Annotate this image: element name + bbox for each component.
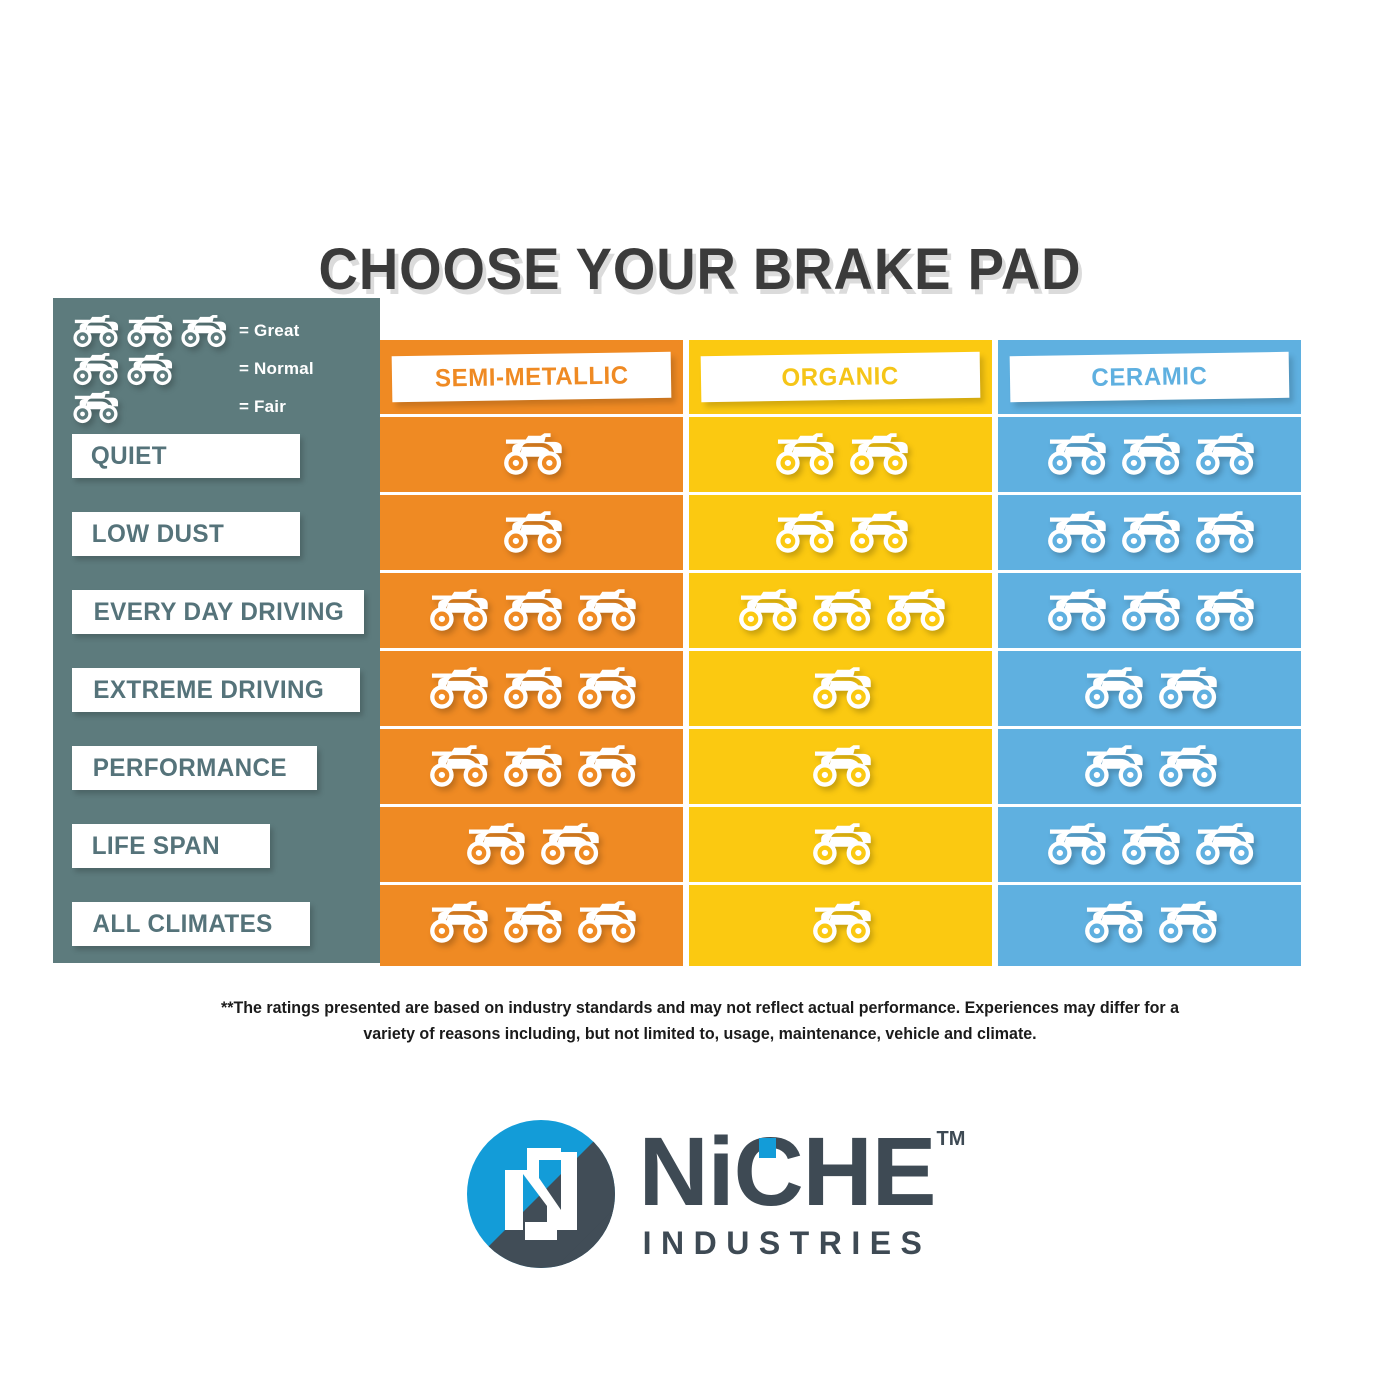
row-label-low-dust: LOW DUST xyxy=(72,512,300,556)
atv-rating-icon xyxy=(501,510,563,555)
legend-icon-group xyxy=(71,390,239,425)
row-label-life-span: LIFE SPAN xyxy=(72,824,270,868)
row-label-text: EXTREME DRIVING xyxy=(76,676,324,705)
rating-cell xyxy=(689,882,992,960)
atv-rating-icon xyxy=(1119,588,1181,633)
rating-cell xyxy=(689,570,992,648)
row-label-text: LOW DUST xyxy=(74,520,224,549)
rating-cell xyxy=(689,726,992,804)
atv-rating-icon xyxy=(1082,744,1144,789)
brake-pad-comparison-chart: = Great= Normal= Fair QUIETLOW DUSTEVERY… xyxy=(53,298,1300,966)
atv-rating-icon xyxy=(847,510,909,555)
rating-cell xyxy=(380,882,683,960)
logo-subtitle: INDUSTRIES xyxy=(643,1225,936,1262)
atv-rating-icon xyxy=(575,666,637,711)
column-header-label: SEMI-METALLIC xyxy=(434,361,628,393)
column-header-organic: ORGANIC xyxy=(689,340,992,414)
atv-rating-icon xyxy=(810,900,872,945)
rating-cell xyxy=(998,804,1301,882)
rating-cell xyxy=(380,492,683,570)
legend-icon-group xyxy=(71,314,239,349)
rating-cell xyxy=(998,570,1301,648)
atv-rating-icon xyxy=(575,744,637,789)
rating-cell xyxy=(998,414,1301,492)
atv-rating-icon xyxy=(1193,822,1255,867)
atv-rating-icon xyxy=(71,352,119,387)
atv-rating-icon xyxy=(501,900,563,945)
row-label-text: PERFORMANCE xyxy=(75,754,287,783)
column-header-semi-metallic: SEMI-METALLIC xyxy=(380,340,683,414)
rating-cell xyxy=(689,492,992,570)
atv-rating-icon xyxy=(1156,744,1218,789)
rating-cell xyxy=(998,492,1301,570)
row-label-text: LIFE SPAN xyxy=(74,832,220,861)
logo-wordmark: NiCHE TM INDUSTRIES xyxy=(639,1126,936,1261)
atv-rating-icon xyxy=(501,588,563,633)
atv-rating-icon xyxy=(427,588,489,633)
atv-rating-icon xyxy=(884,588,946,633)
column-header-label: ORGANIC xyxy=(782,362,900,393)
atv-rating-icon xyxy=(427,666,489,711)
rating-cell xyxy=(998,882,1301,960)
rating-cell xyxy=(689,648,992,726)
atv-rating-icon xyxy=(1156,666,1218,711)
row-label-text: EVERY DAY DRIVING xyxy=(76,598,344,627)
atv-rating-icon xyxy=(71,390,119,425)
chart-sidebar: = Great= Normal= Fair QUIETLOW DUSTEVERY… xyxy=(53,298,380,963)
rating-cell xyxy=(689,804,992,882)
logo-word: NiCHE TM xyxy=(639,1126,936,1218)
atv-rating-icon xyxy=(847,432,909,477)
atv-rating-icon xyxy=(1156,900,1218,945)
legend-row: = Fair xyxy=(71,388,371,426)
column-header-chip: SEMI-METALLIC xyxy=(392,352,672,402)
atv-rating-icon xyxy=(125,352,173,387)
logo-word-text: NiCHE xyxy=(639,1117,936,1226)
column-header-ceramic: CERAMIC xyxy=(998,340,1301,414)
company-logo: NiCHE TM INDUSTRIES xyxy=(0,1118,1400,1270)
rating-cell xyxy=(689,414,992,492)
row-label-quiet: QUIET xyxy=(72,434,300,478)
atv-rating-icon xyxy=(179,314,227,349)
atv-rating-icon xyxy=(1193,510,1255,555)
atv-rating-icon xyxy=(810,666,872,711)
atv-rating-icon xyxy=(810,588,872,633)
row-label-performance: PERFORMANCE xyxy=(72,746,317,790)
atv-rating-icon xyxy=(501,432,563,477)
atv-rating-icon xyxy=(575,900,637,945)
page-title: CHOOSE YOUR BRAKE PAD xyxy=(42,236,1358,303)
atv-rating-icon xyxy=(1119,432,1181,477)
rating-cell xyxy=(998,648,1301,726)
column-ceramic: CERAMIC xyxy=(998,340,1301,966)
atv-rating-icon xyxy=(575,588,637,633)
atv-rating-icon xyxy=(1193,432,1255,477)
atv-rating-icon xyxy=(810,822,872,867)
row-label-extreme-driving: EXTREME DRIVING xyxy=(72,668,360,712)
atv-rating-icon xyxy=(773,510,835,555)
atv-rating-icon xyxy=(1045,822,1107,867)
atv-rating-icon xyxy=(1045,588,1107,633)
legend-row: = Normal xyxy=(71,350,371,388)
atv-rating-icon xyxy=(1193,588,1255,633)
rating-cell xyxy=(998,726,1301,804)
logo-i-dot-icon xyxy=(759,1138,776,1158)
row-label-all-climates: ALL CLIMATES xyxy=(72,902,310,946)
atv-rating-icon xyxy=(1045,510,1107,555)
legend-label: = Great xyxy=(239,321,299,341)
niche-logo-mark-icon xyxy=(465,1118,617,1270)
rating-cell xyxy=(380,414,683,492)
atv-rating-icon xyxy=(810,744,872,789)
atv-rating-icon xyxy=(125,314,173,349)
atv-rating-icon xyxy=(1082,666,1144,711)
atv-rating-icon xyxy=(736,588,798,633)
row-label-every-day-driving: EVERY DAY DRIVING xyxy=(72,590,364,634)
atv-rating-icon xyxy=(1082,900,1144,945)
atv-rating-icon xyxy=(71,314,119,349)
legend-icon-group xyxy=(71,352,239,387)
rating-cell xyxy=(380,648,683,726)
atv-rating-icon xyxy=(427,900,489,945)
logo-trademark: TM xyxy=(937,1130,966,1149)
legend-label: = Normal xyxy=(239,359,314,379)
atv-rating-icon xyxy=(538,822,600,867)
column-header-chip: ORGANIC xyxy=(701,352,981,402)
footnote-disclaimer: **The ratings presented are based on ind… xyxy=(205,996,1194,1047)
legend-label: = Fair xyxy=(239,397,286,417)
atv-rating-icon xyxy=(1045,432,1107,477)
rating-cell xyxy=(380,726,683,804)
column-header-label: CERAMIC xyxy=(1091,362,1207,393)
legend-row: = Great xyxy=(71,312,371,350)
rating-legend: = Great= Normal= Fair xyxy=(71,312,371,426)
atv-rating-icon xyxy=(773,432,835,477)
row-label-text: ALL CLIMATES xyxy=(75,910,273,939)
rating-cell xyxy=(380,570,683,648)
atv-rating-icon xyxy=(427,744,489,789)
row-label-text: QUIET xyxy=(73,442,167,471)
atv-rating-icon xyxy=(1119,822,1181,867)
column-semi-metallic: SEMI-METALLIC xyxy=(380,340,683,966)
atv-rating-icon xyxy=(501,666,563,711)
column-header-chip: CERAMIC xyxy=(1010,352,1290,402)
atv-rating-icon xyxy=(501,744,563,789)
column-organic: ORGANIC xyxy=(689,340,992,966)
atv-rating-icon xyxy=(1119,510,1181,555)
rating-cell xyxy=(380,804,683,882)
atv-rating-icon xyxy=(464,822,526,867)
